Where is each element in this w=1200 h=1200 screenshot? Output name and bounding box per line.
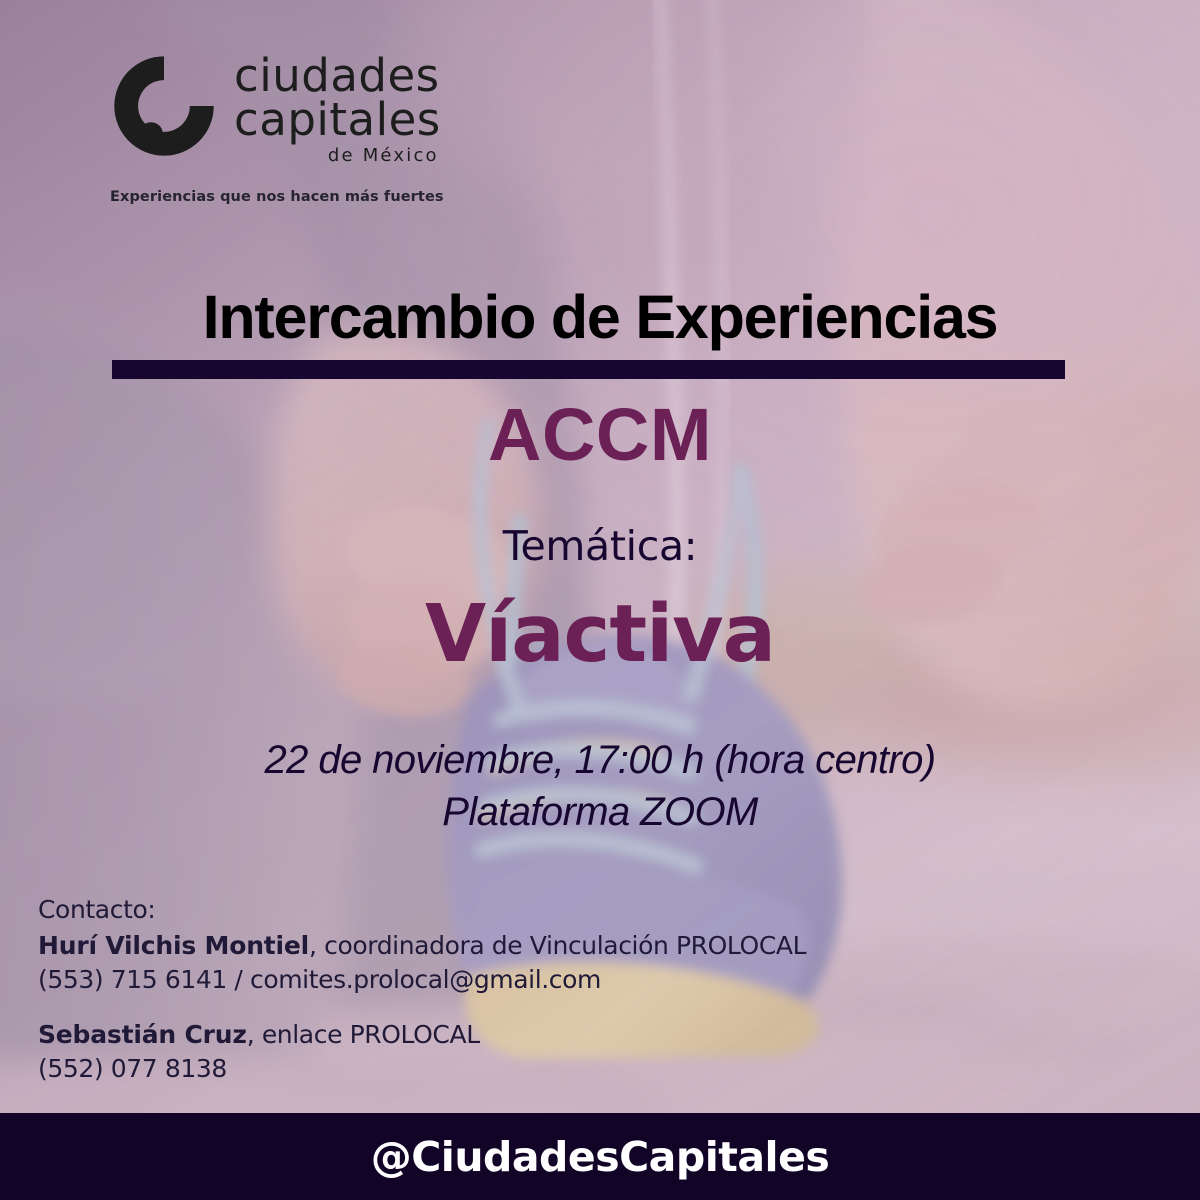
event-datetime: 22 de noviembre, 17:00 h (hora centro) <box>0 738 1200 783</box>
contact-person-details[interactable]: (553) 715 6141 / comites.prolocal@gmail.… <box>38 963 806 997</box>
contact-person-line: Sebastián Cruz, enlace PROLOCAL <box>38 1018 806 1052</box>
event-platform: Plataforma ZOOM <box>0 790 1200 835</box>
contact-person-name: Hurí Vilchis Montiel <box>38 931 309 960</box>
page-title: Intercambio de Experiencias <box>0 282 1200 352</box>
acronym-heading: ACCM <box>0 392 1200 477</box>
brand-logo-block: ciudades capitales de México Experiencia… <box>110 48 540 205</box>
ciudades-capitales-c-mark-icon <box>110 52 218 160</box>
contact-person-name: Sebastián Cruz <box>38 1020 247 1049</box>
title-divider-rule <box>112 360 1065 379</box>
theme-value: Víactiva <box>0 588 1200 680</box>
brand-tagline: Experiencias que nos hacen más fuertes <box>110 189 540 205</box>
contact-person-role: , coordinadora de Vinculación PROLOCAL <box>309 931 806 960</box>
theme-label: Temática: <box>0 522 1200 570</box>
footer-bar: @CiudadesCapitales <box>0 1113 1200 1200</box>
contact-block: Contacto: Hurí Vilchis Montiel, coordina… <box>38 893 806 1086</box>
contact-heading: Contacto: <box>38 893 806 927</box>
logo-wordmark: ciudades capitales de México <box>234 48 441 166</box>
logo-word-sub: de México <box>234 145 441 166</box>
contact-person-details[interactable]: (552) 077 8138 <box>38 1052 806 1086</box>
contact-person-line: Hurí Vilchis Montiel, coordinadora de Vi… <box>38 929 806 963</box>
contact-spacer <box>38 996 806 1018</box>
social-handle[interactable]: @CiudadesCapitales <box>371 1133 830 1181</box>
contact-person-role: , enlace PROLOCAL <box>247 1020 480 1049</box>
logo-row: ciudades capitales de México <box>110 48 540 166</box>
logo-word-line2: capitales <box>234 98 441 142</box>
logo-word-line1: ciudades <box>234 54 441 98</box>
poster-canvas: ciudades capitales de México Experiencia… <box>0 0 1200 1200</box>
